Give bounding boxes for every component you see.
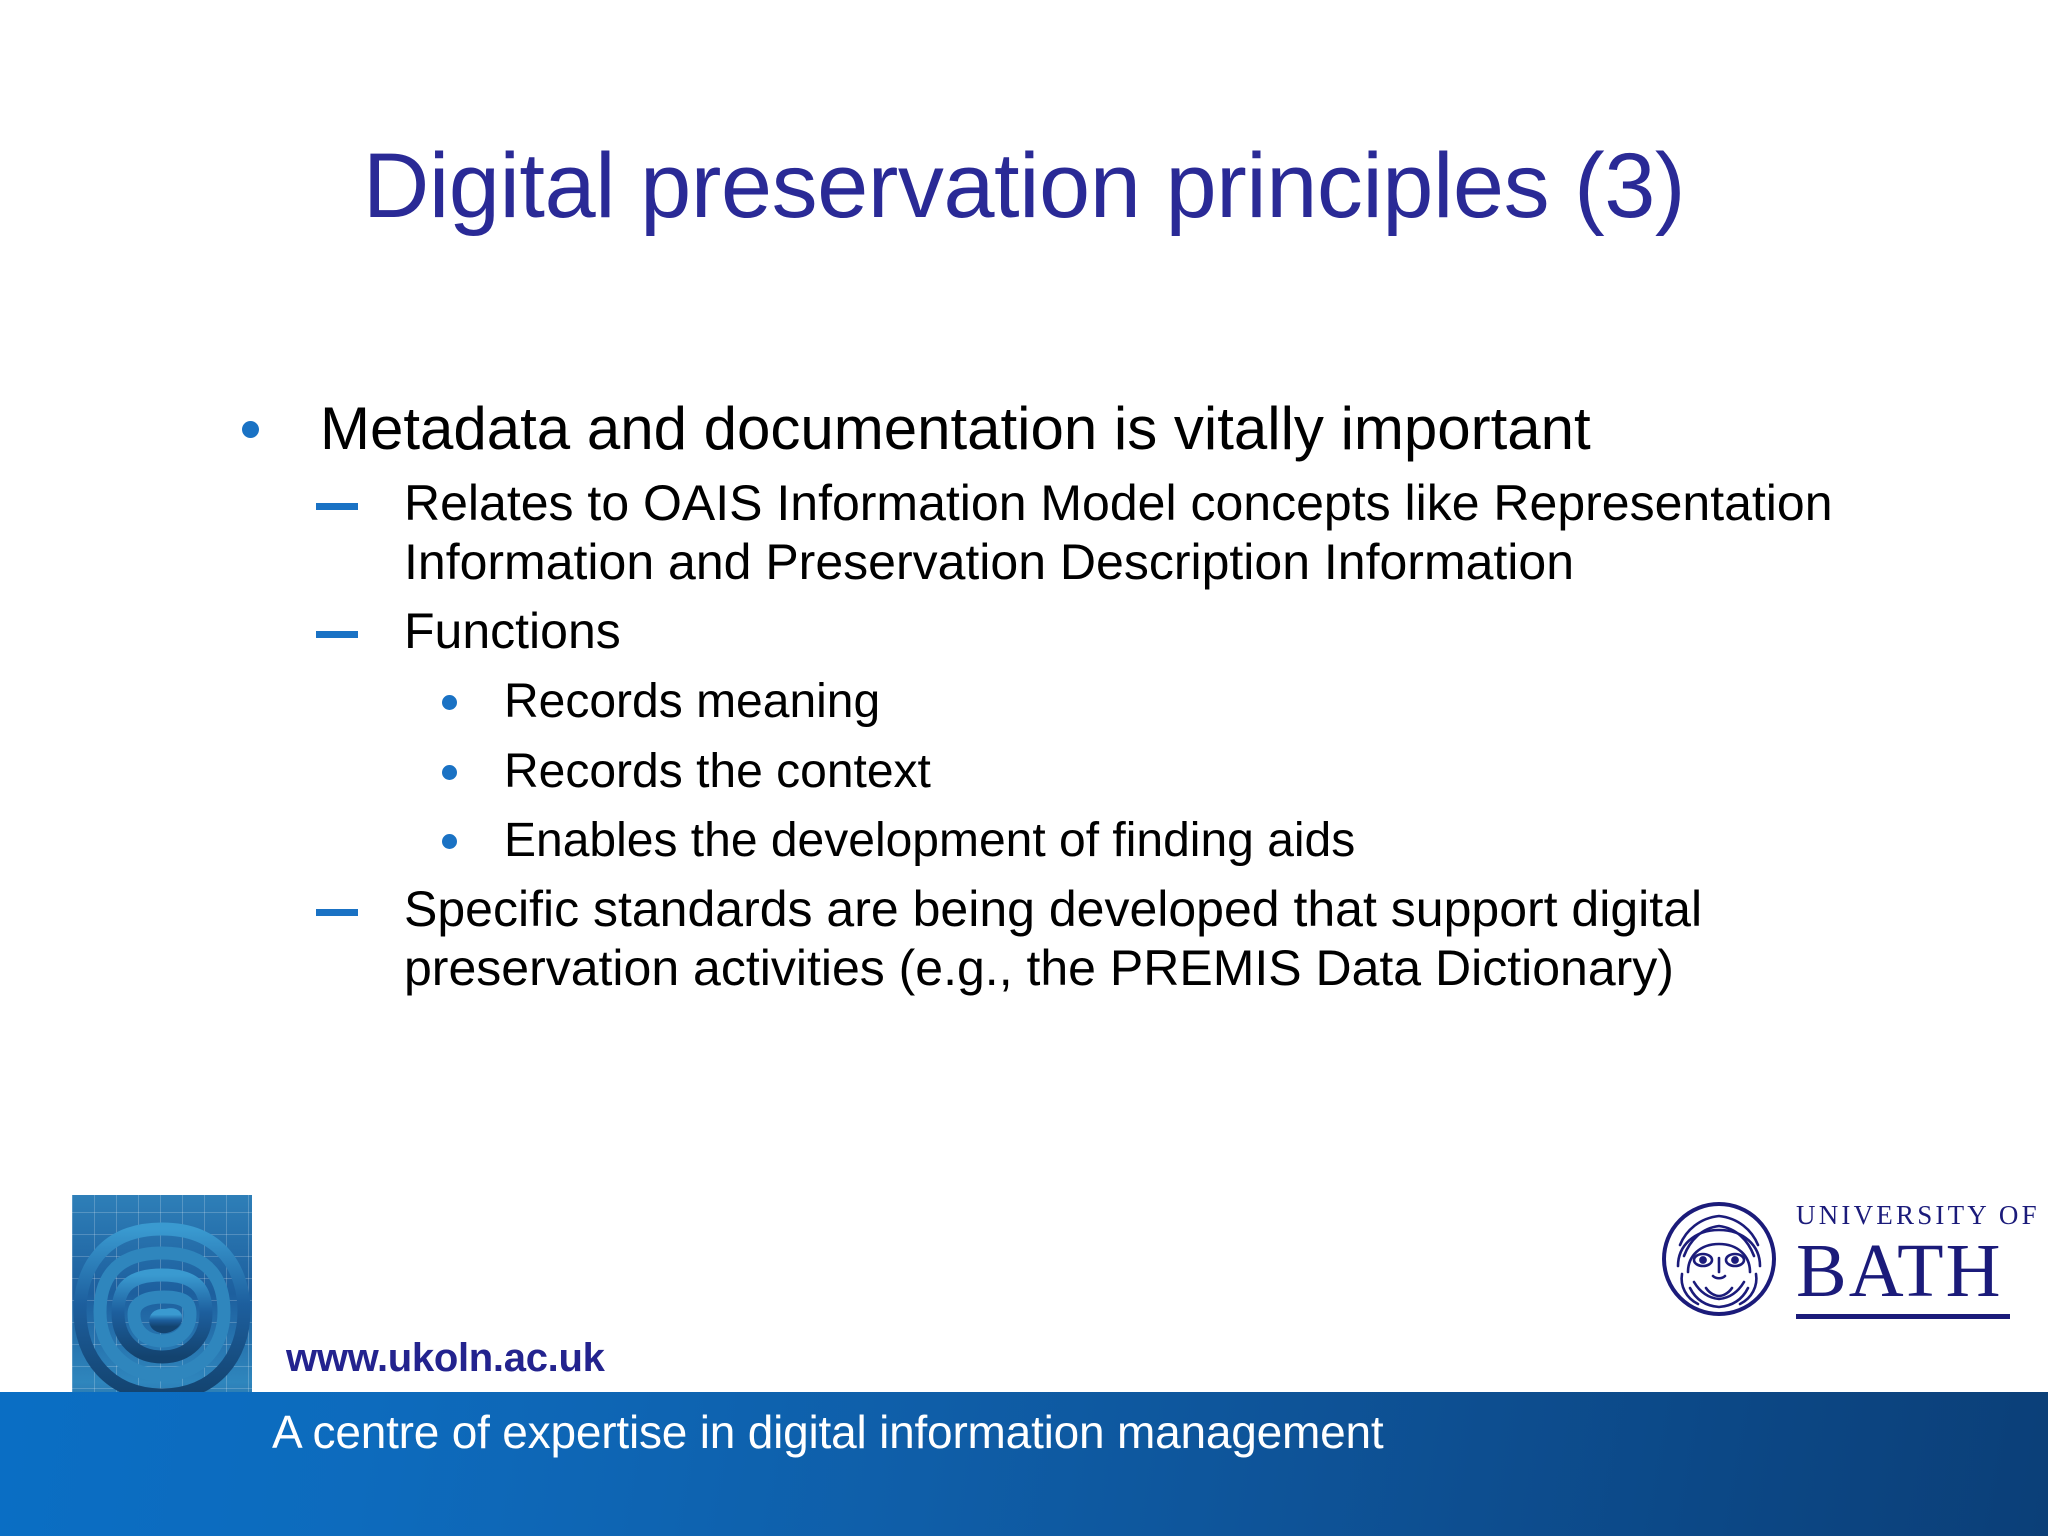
- bullet-text: Records the context: [504, 745, 931, 798]
- bullet-dot-icon: [442, 765, 457, 780]
- bullet-text: Functions: [404, 603, 621, 659]
- bullet-text: Relates to OAIS Information Model concep…: [404, 475, 1833, 590]
- bullet-text: Specific standards are being developed t…: [404, 881, 1702, 996]
- bullet-level2-oais: Relates to OAIS Information Model concep…: [228, 474, 1928, 592]
- bath-name-line: BATH: [1796, 1233, 2010, 1309]
- ukoln-url[interactable]: www.ukoln.ac.uk: [286, 1336, 605, 1381]
- bullet-level3-records-context: Records the context: [228, 743, 1928, 801]
- university-of-bath-logo: UNIVERSITY OF BATH: [1660, 1196, 2010, 1324]
- bath-underline-rule: [1796, 1314, 2010, 1319]
- bullet-text: Metadata and documentation is vitally im…: [320, 395, 1591, 462]
- bullet-level3-finding-aids: Enables the development of finding aids: [228, 812, 1928, 870]
- page-title: Digital preservation principles (3): [0, 138, 2048, 235]
- bullet-dash-icon: [316, 631, 358, 638]
- bullet-text: Enables the development of finding aids: [504, 814, 1355, 867]
- bullet-dot-icon: [242, 421, 259, 438]
- slide-body: Metadata and documentation is vitally im…: [228, 395, 1928, 1004]
- bullet-dot-icon: [442, 834, 457, 849]
- bullet-dash-icon: [316, 909, 358, 916]
- bullet-dash-icon: [316, 503, 358, 510]
- bullet-level2-functions: Functions: [228, 602, 1928, 661]
- bullet-level3-records-meaning: Records meaning: [228, 673, 1928, 731]
- bullet-level2-premis: Specific standards are being developed t…: [228, 880, 1928, 998]
- presentation-slide: Digital preservation principles (3) Meta…: [0, 0, 2048, 1536]
- bullet-level1-metadata: Metadata and documentation is vitally im…: [228, 395, 1928, 462]
- ukoln-spiral-eye-icon: [72, 1209, 252, 1414]
- bullet-text: Records meaning: [504, 675, 880, 728]
- footer-tagline: A centre of expertise in digital informa…: [272, 1405, 1384, 1459]
- bullet-dot-icon: [442, 695, 457, 710]
- bath-wordmark: UNIVERSITY OF BATH: [1796, 1196, 2010, 1319]
- bath-crest-icon: [1660, 1200, 1778, 1318]
- bath-university-line: UNIVERSITY OF: [1796, 1202, 2010, 1229]
